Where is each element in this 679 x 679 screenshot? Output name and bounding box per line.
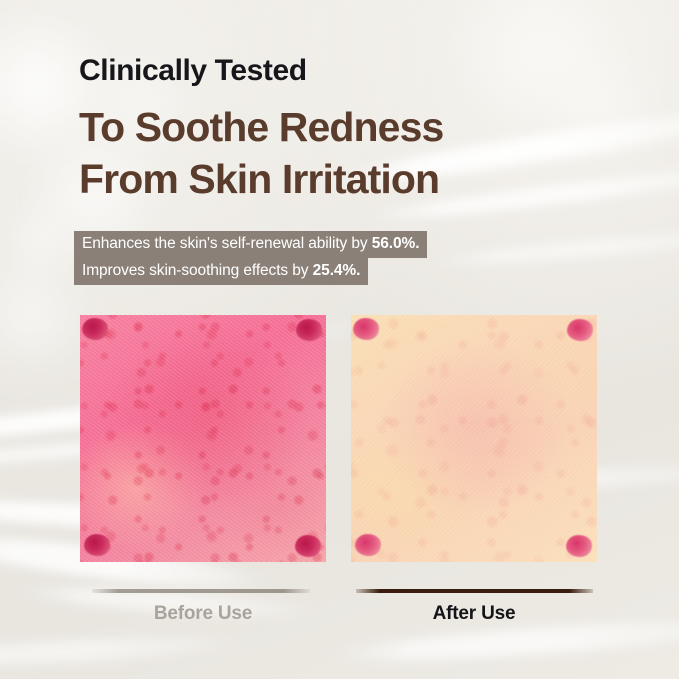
claim-text: Improves skin-soothing effects by: [82, 262, 313, 279]
claim-row: Improves skin-soothing effects by 25.4%.: [74, 258, 427, 285]
skin-blotch-marker: [84, 534, 110, 556]
claim-value: 25.4%.: [313, 262, 361, 279]
clinical-test-ad-panel: Clinically Tested To Soothe Redness From…: [0, 0, 679, 679]
claim-row: Enhances the skin's self-renewal ability…: [74, 231, 427, 258]
claim-badge-soothing: Improves skin-soothing effects by 25.4%.: [74, 258, 368, 285]
after-use-label: After Use: [351, 603, 597, 625]
headline-line-2: From Skin Irritation: [79, 153, 443, 205]
before-skin-image: [80, 315, 326, 562]
background-bokeh-blob: [0, 200, 80, 280]
after-skin-image: [351, 315, 597, 562]
claim-text: Enhances the skin's self-renewal ability…: [82, 235, 372, 252]
after-divider-rule: [356, 589, 593, 593]
headline-line-1: To Soothe Redness: [79, 101, 443, 153]
skin-blotch-marker: [82, 318, 108, 340]
skin-blotch-marker: [296, 319, 322, 341]
before-skin-grain: [80, 315, 326, 562]
page-title: To Soothe Redness From Skin Irritation: [79, 101, 443, 206]
skin-blotch-marker: [355, 534, 381, 556]
skin-blotch-marker: [295, 535, 321, 557]
skin-blotch-marker: [353, 318, 379, 340]
eyebrow-text: Clinically Tested: [79, 54, 307, 88]
claims-list: Enhances the skin's self-renewal ability…: [74, 231, 427, 285]
before-divider-rule: [92, 589, 310, 593]
claim-value: 56.0%.: [372, 235, 420, 252]
skin-blotch-marker: [566, 535, 592, 557]
skin-blotch-marker: [567, 319, 593, 341]
before-use-label: Before Use: [80, 603, 326, 625]
claim-badge-self-renewal: Enhances the skin's self-renewal ability…: [74, 231, 427, 258]
after-skin-grain: [351, 315, 597, 562]
